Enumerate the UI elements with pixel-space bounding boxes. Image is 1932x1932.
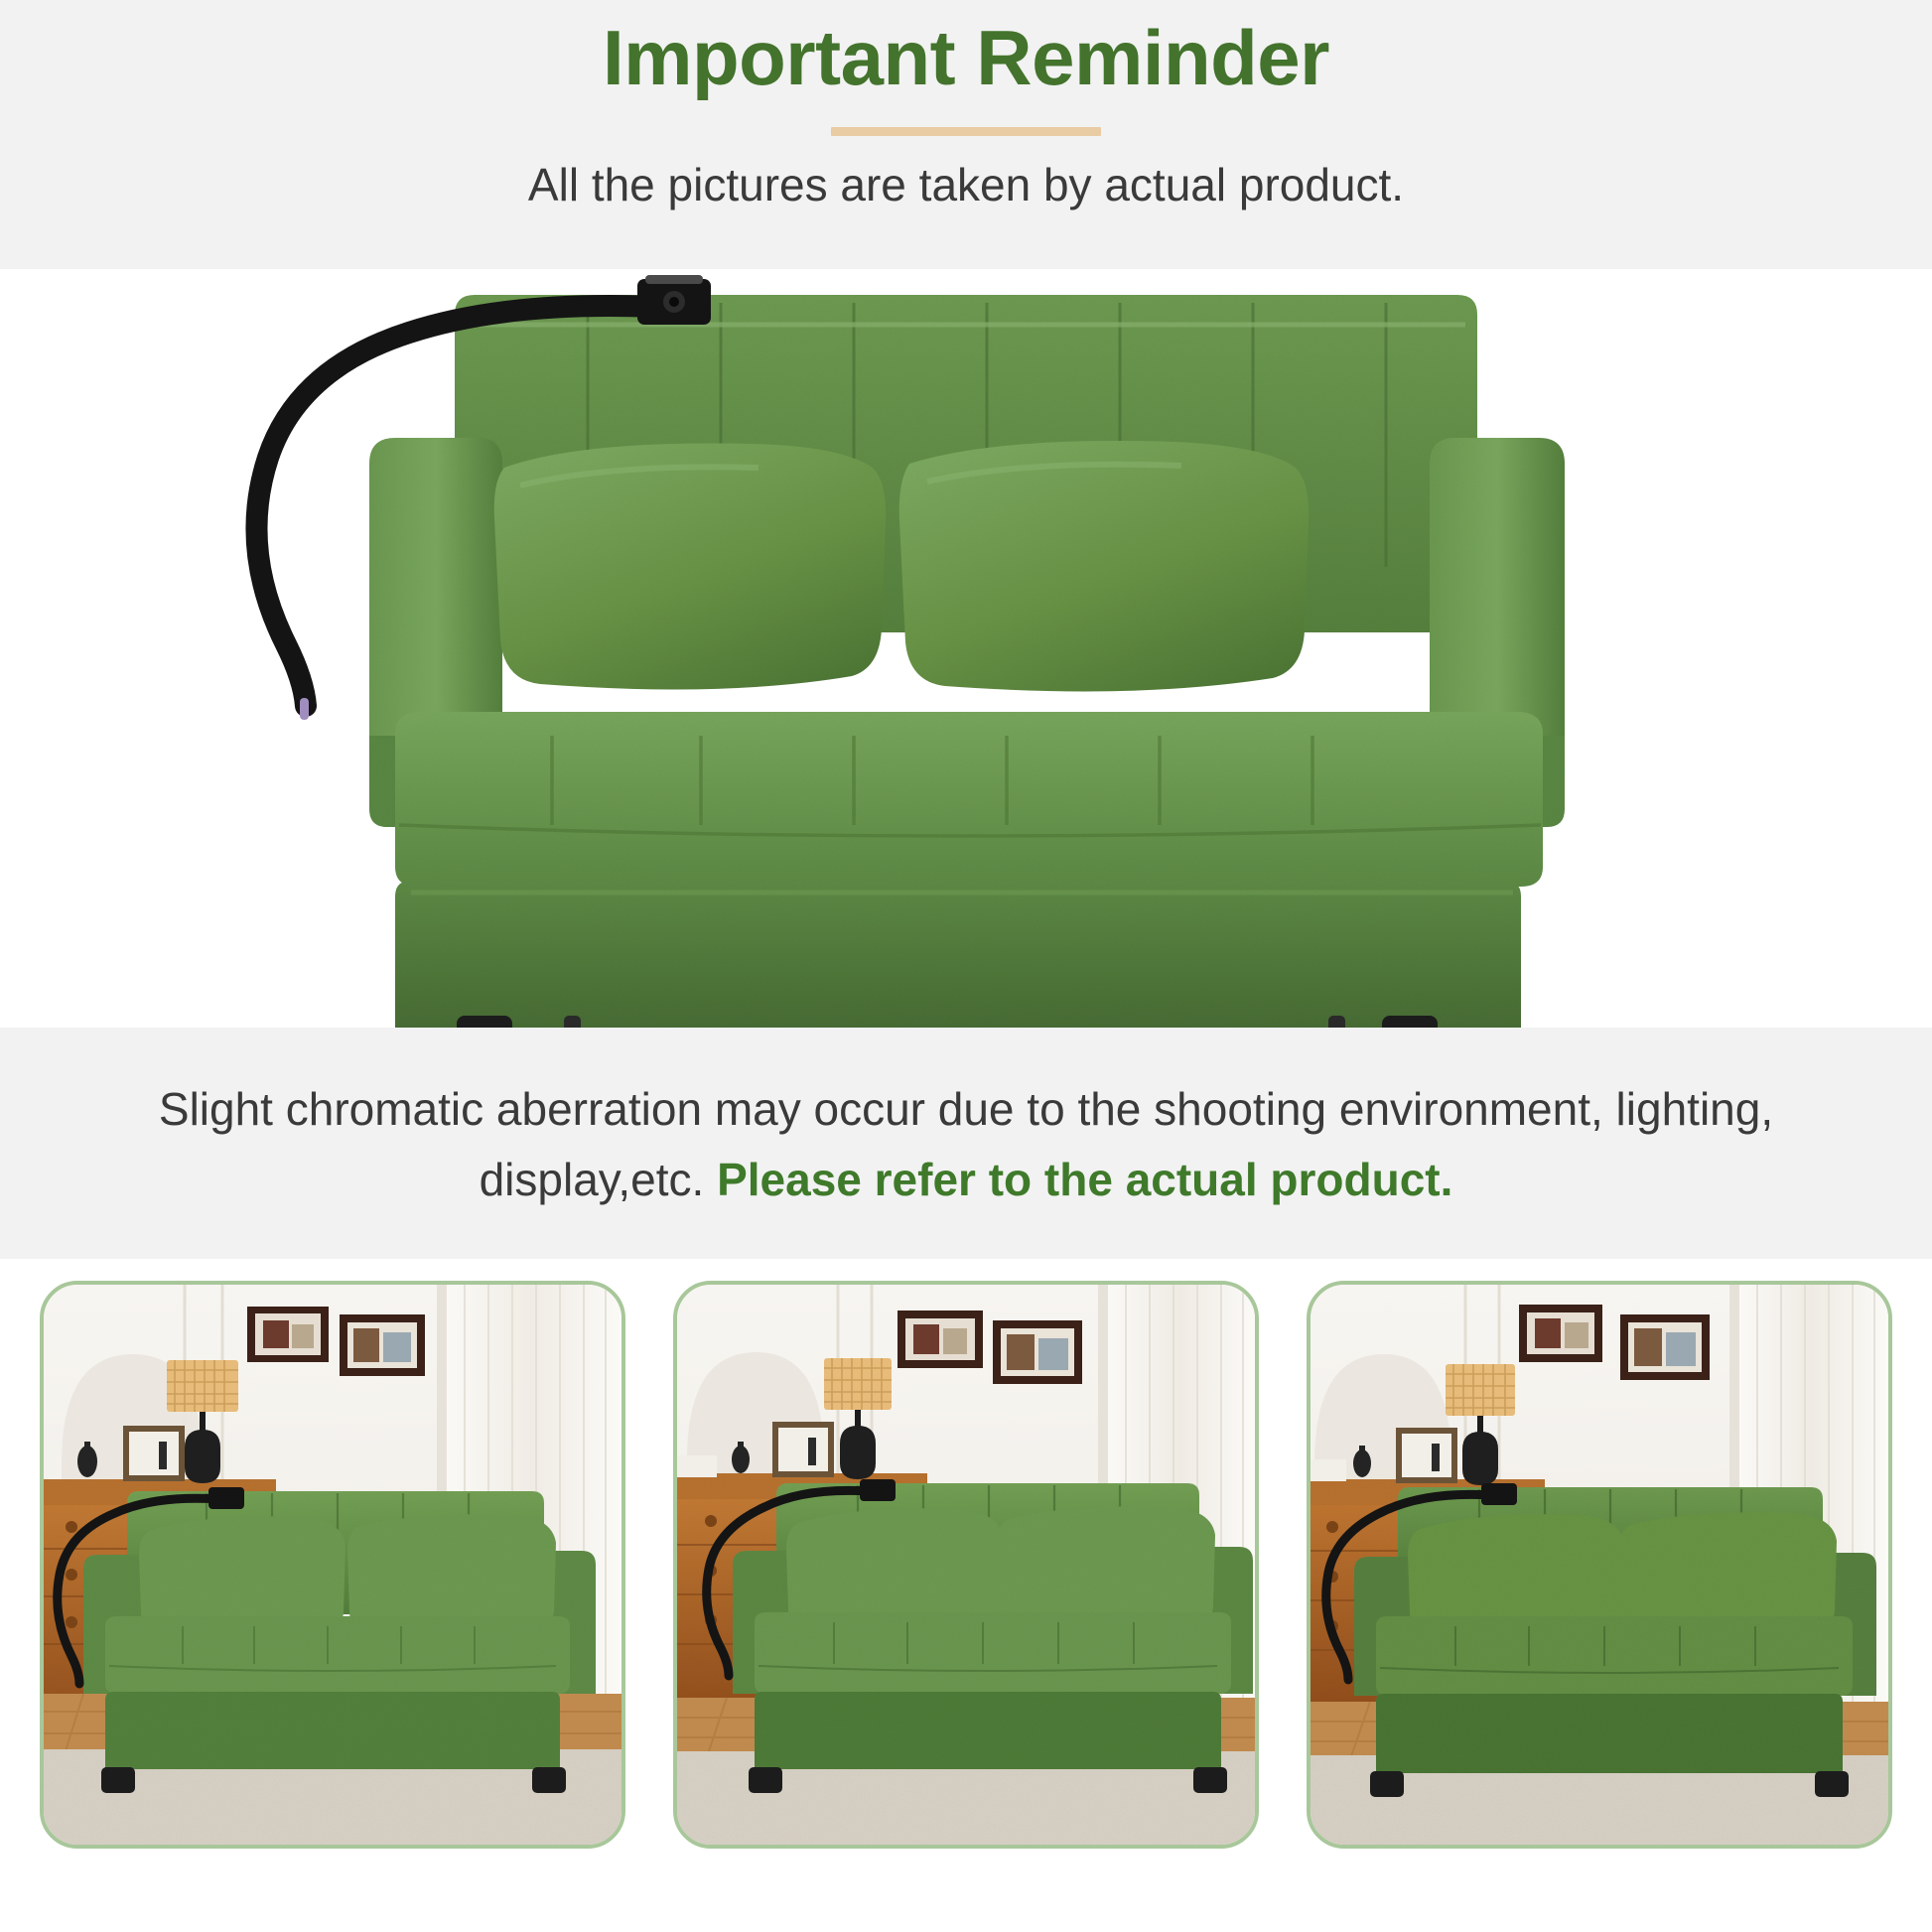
hero-product-image [0,269,1932,1028]
notice-accent-text: Please refer to the actual product. [717,1154,1452,1205]
room-scene-thumbnail-2[interactable] [673,1281,1259,1849]
chromatic-aberration-notice: Slight chromatic aberration may occur du… [0,1074,1932,1216]
room-scene-gallery [0,1281,1932,1866]
tabletop-photo-frame [123,1426,185,1481]
wall-frame-1 [1519,1305,1602,1362]
loveseat [1354,1487,1876,1797]
loveseat [83,1491,596,1793]
wall-frame-1 [897,1311,983,1368]
header-subtitle: All the pictures are taken by actual pro… [0,154,1932,215]
tabletop-photo-frame [772,1422,834,1477]
room-scene-thumbnail-3[interactable] [1307,1281,1892,1849]
title-divider [831,127,1101,136]
loveseat [733,1483,1253,1793]
product-reminder-page: Important Reminder All the pictures are … [0,0,1932,1932]
tabletop-photo-frame [1396,1428,1457,1483]
wall-frame-2 [1620,1314,1710,1380]
wall-frame-1 [247,1307,329,1362]
page-title: Important Reminder [0,18,1932,99]
wall-frame-2 [340,1314,425,1376]
room-scene-thumbnail-1[interactable] [40,1281,625,1849]
wall-frame-2 [993,1320,1082,1384]
